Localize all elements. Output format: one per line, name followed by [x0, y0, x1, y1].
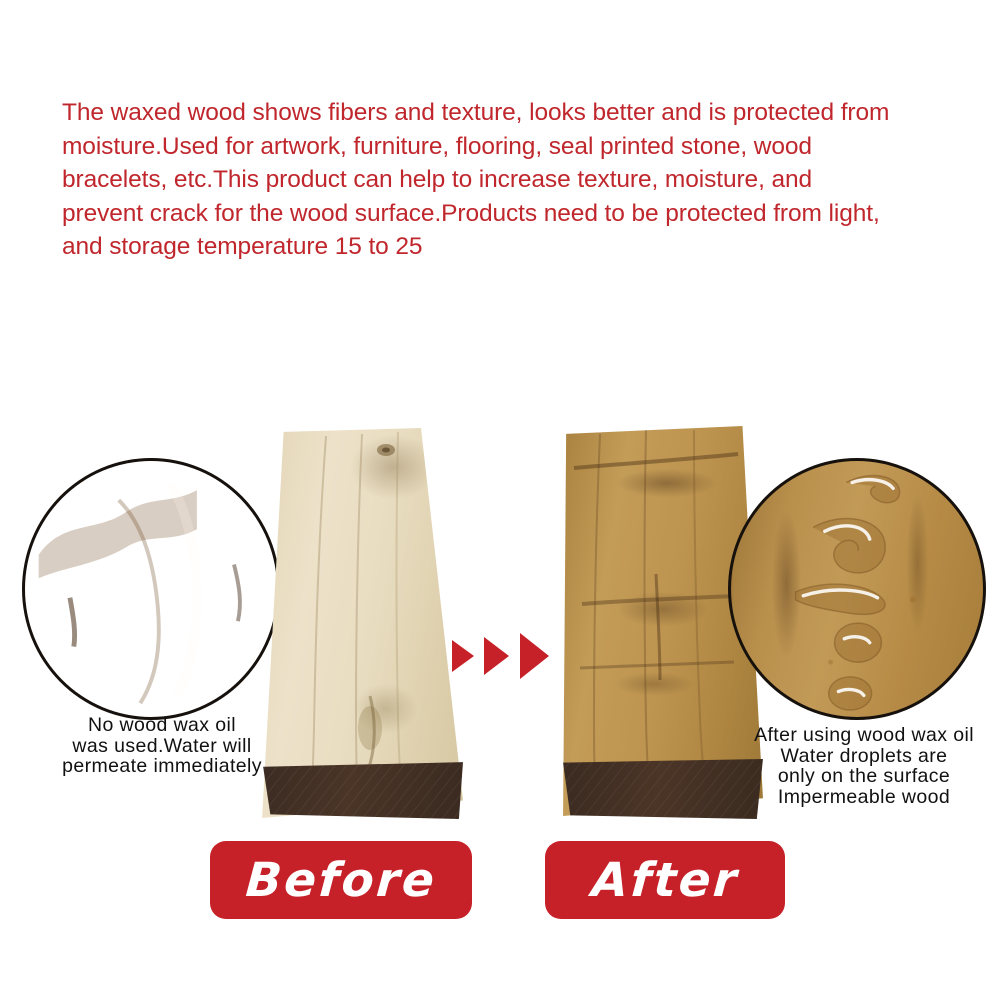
after-closeup-inset	[728, 458, 986, 720]
before-closeup-inset	[22, 458, 280, 720]
chevron-right-icon	[484, 637, 509, 675]
chevron-right-icon	[520, 633, 549, 679]
after-banner-label: After	[590, 853, 741, 908]
waxed-wood-closeup-photo	[728, 458, 986, 720]
after-caption-text: After using wood wax oil Water droplets …	[733, 725, 995, 807]
product-comparison-image: The waxed wood shows fibers and texture,…	[0, 0, 1000, 1000]
untreated-wood-closeup-photo	[22, 458, 280, 720]
transition-arrows	[452, 628, 564, 688]
before-banner-label: Before	[244, 853, 438, 908]
product-description-paragraph: The waxed wood shows fibers and texture,…	[62, 96, 892, 264]
untreated-wood-grain-overlay	[258, 428, 463, 818]
after-banner: After	[545, 841, 785, 919]
water-absorbed-stain-overlay	[25, 461, 277, 717]
before-caption-text: No wood wax oil was used.Water will perm…	[28, 715, 296, 777]
untreated-block-end-grain	[258, 761, 463, 819]
untreated-wood-face	[258, 428, 463, 818]
chevron-right-icon	[452, 640, 474, 672]
water-droplets-overlay	[731, 461, 983, 717]
untreated-wood-block	[258, 428, 463, 818]
before-banner: Before	[210, 841, 472, 919]
